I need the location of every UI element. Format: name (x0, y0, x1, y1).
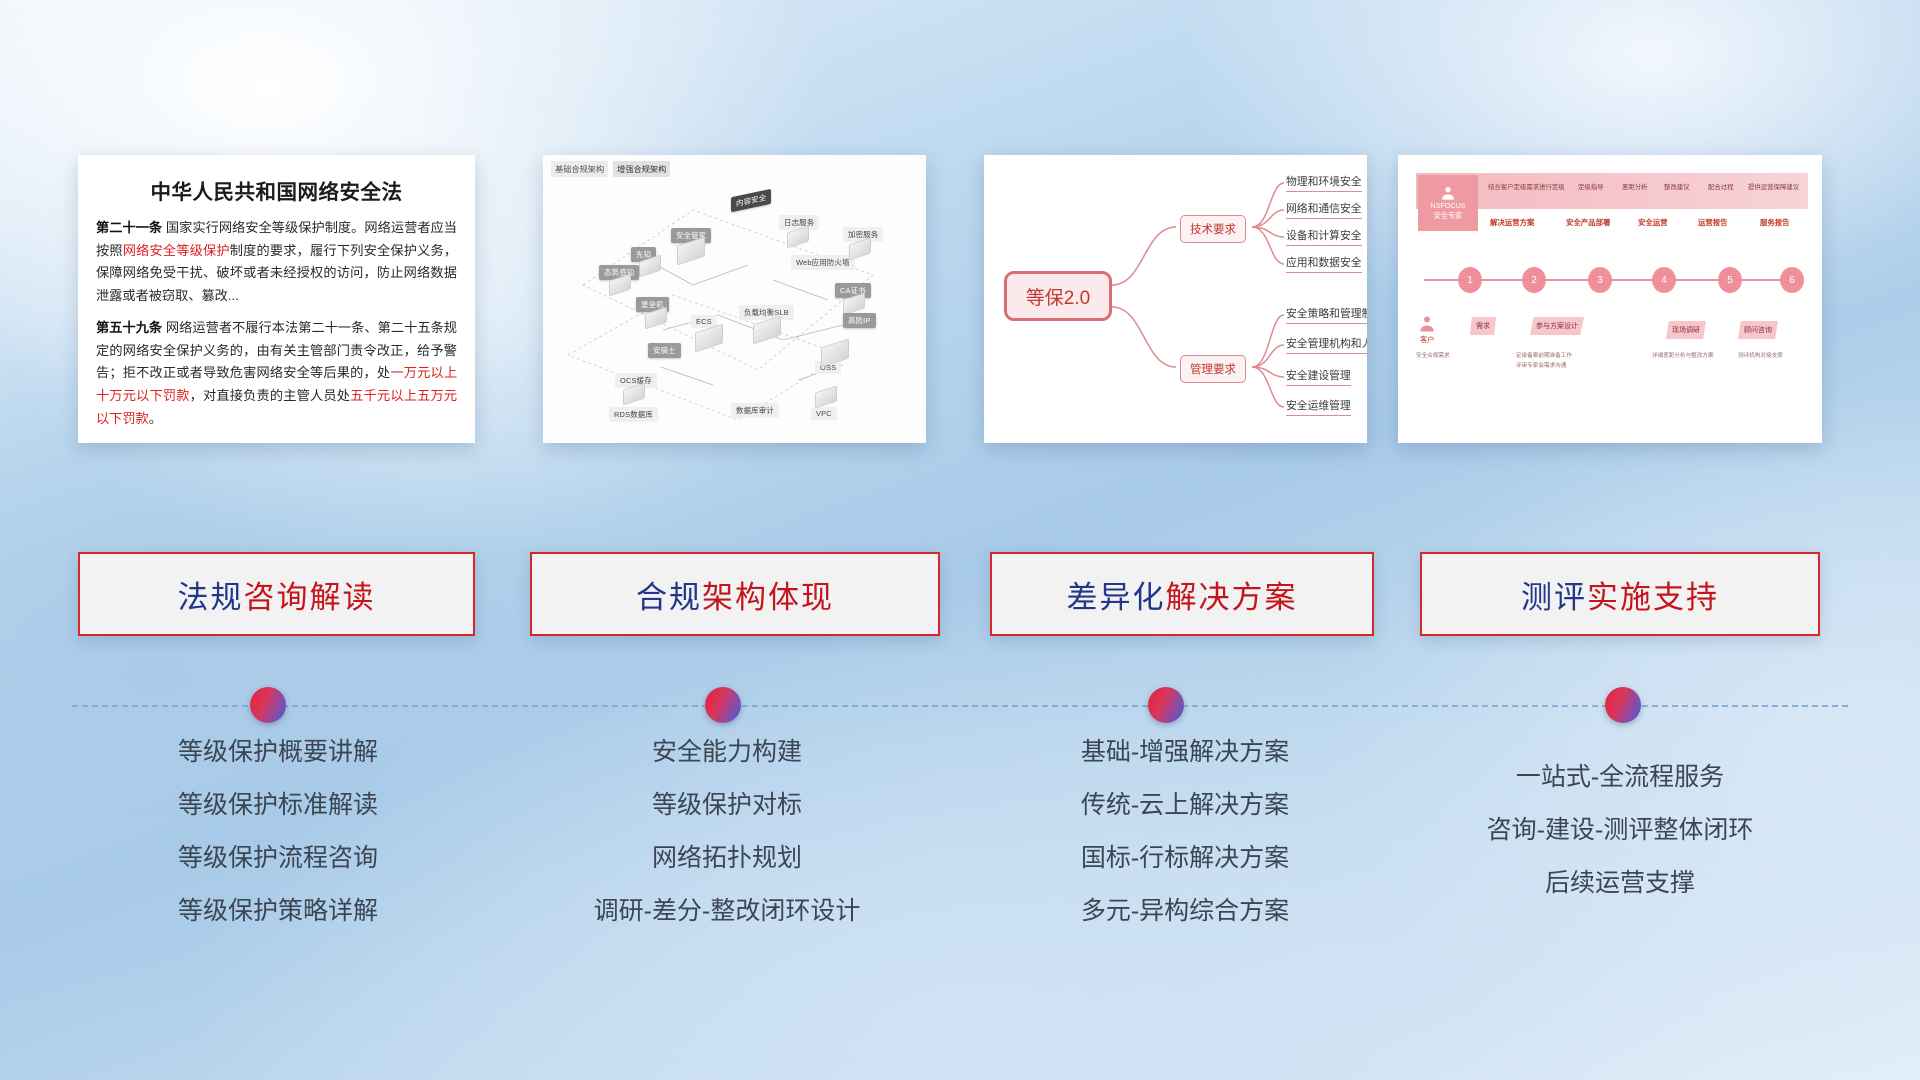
banner-2-red: 架构体现 (702, 580, 834, 615)
roadmap-brand-sub: 安全专家 (1434, 211, 1463, 221)
roadmap-tag-sub-4: 详细差距分析与整改方案 (1652, 351, 1714, 359)
node-anti-ddos-ip: 高防IP (843, 313, 876, 328)
roadmap-tag-sub-3: 评审专家会需求沟通 (1516, 361, 1566, 369)
node-vpc: VPC (811, 407, 837, 420)
list-item: 网络拓扑规划 (512, 846, 942, 871)
article-21-label: 第二十一条 (96, 220, 162, 235)
roadmap-header-item-3: 差距分析 (1622, 182, 1648, 191)
law-article-21: 第二十一条 国家实行网络安全等级保护制度。网络运营者应当按照网络安全等级保护制度… (96, 217, 457, 308)
timeline-dot-2[interactable] (705, 687, 741, 723)
mindmap-leaf-network-comm: 网络和通信安全 (1286, 200, 1362, 219)
roadmap-step-4: 4 (1652, 267, 1676, 293)
banner-evaluation-support[interactable]: 测评实施支持 (1420, 552, 1820, 636)
feature-list-architecture: 安全能力构建 等级保护对标 网络拓扑规划 调研-差分-整改闭环设计 (512, 740, 942, 952)
roadmap-service-2: 安全产品部署 (1566, 217, 1610, 228)
list-item: 等级保护流程咨询 (78, 846, 478, 871)
mindmap-leaf-physical-env: 物理和环境安全 (1286, 173, 1362, 192)
roadmap-header-item-4: 整改建议 (1664, 182, 1690, 191)
node-rds-database: RDS数据库 (609, 407, 658, 422)
banner-1-blue: 法规 (178, 580, 244, 615)
list-item: 等级保护概要讲解 (78, 740, 478, 765)
node-anqishi: 安骑士 (648, 343, 681, 358)
article-59-text-3: 。 (149, 411, 162, 426)
roadmap-diagram: 结合客户定级需求进行定级 定级指导 差距分析 整改建议 配合过程 提供运营保障建… (1398, 155, 1822, 443)
list-item: 国标-行标解决方案 (975, 846, 1395, 871)
thumbnail-card-row: 中华人民共和国网络安全法 第二十一条 国家实行网络安全等级保护制度。网络运营者应… (0, 155, 1920, 445)
banner-2-blue: 合规 (636, 580, 702, 615)
banner-4-red: 实施支持 (1587, 580, 1719, 615)
roadmap-step-5: 5 (1718, 267, 1742, 293)
feature-list-solution: 基础-增强解决方案 传统-云上解决方案 国标-行标解决方案 多元-异构综合方案 (975, 740, 1395, 952)
list-item: 一站式-全流程服务 (1410, 765, 1830, 790)
roadmap-tag-2: 参与方案设计 (1530, 317, 1584, 335)
list-item: 安全能力构建 (512, 740, 942, 765)
banner-3-blue: 差异化 (1067, 580, 1166, 615)
roadmap-header-item-2: 定级指导 (1578, 182, 1604, 191)
mindmap-leaf-app-data: 应用和数据安全 (1286, 254, 1362, 273)
node-load-balancer: 负载均衡SLB (739, 305, 794, 320)
mindmap-leaf-policy-system: 安全策略和管理制度 (1286, 305, 1367, 324)
mindmap-branch-technical: 技术要求 (1180, 215, 1246, 243)
roadmap-step-1: 1 (1458, 267, 1482, 293)
banner-4-blue: 测评 (1521, 580, 1587, 615)
timeline-dot-3[interactable] (1148, 687, 1184, 723)
mindmap-leaf-device-compute: 设备和计算安全 (1286, 227, 1362, 246)
roadmap-step-6: 6 (1780, 267, 1804, 293)
roadmap-customer-label: 客户 (1420, 335, 1434, 345)
banner-3-red: 解决方案 (1166, 580, 1298, 615)
page-root: 中华人民共和国网络安全法 第二十一条 国家实行网络安全等级保护制度。网络运营者应… (0, 0, 1920, 1080)
timeline-dashed-line (72, 705, 1848, 707)
roadmap-header-item-1: 结合客户定级需求进行定级 (1488, 182, 1565, 191)
roadmap-tag-4: 顾问咨询 (1738, 321, 1778, 339)
roadmap-tag-sub-1: 安全合规需求 (1416, 351, 1450, 359)
banner-3-text: 差异化解决方案 (1067, 572, 1298, 617)
timeline-dot-4[interactable] (1605, 687, 1641, 723)
roadmap-service-4: 运营报告 (1698, 217, 1728, 228)
list-item: 等级保护策略详解 (78, 899, 478, 924)
timeline-dot-1[interactable] (250, 687, 286, 723)
node-db-audit: 数据库审计 (731, 403, 779, 418)
roadmap-tag-sub-2: 定级备案前期准备工作 (1516, 351, 1572, 359)
roadmap-tag-3: 现场调研 (1666, 321, 1706, 339)
roadmap-tag-1: 需求 (1470, 317, 1496, 335)
list-item: 调研-差分-整改闭环设计 (512, 899, 942, 924)
law-document: 中华人民共和国网络安全法 第二十一条 国家实行网络安全等级保护制度。网络运营者应… (78, 155, 475, 443)
card-compliance-architecture[interactable]: 基础合规架构 增强合规架构 (543, 155, 926, 443)
roadmap-brand-name: NSFOCUS (1430, 201, 1465, 211)
card-cybersecurity-law[interactable]: 中华人民共和国网络安全法 第二十一条 国家实行网络安全等级保护制度。网络运营者应… (78, 155, 475, 443)
mindmap-branch-management: 管理要求 (1180, 355, 1246, 383)
article-59-label: 第五十九条 (96, 320, 162, 335)
mindmap-leaf-ops-mgmt: 安全运维管理 (1286, 397, 1351, 416)
roadmap-service-1: 解决运营方案 (1490, 217, 1534, 228)
mindmap-leaf-construction-mgmt: 安全建设管理 (1286, 367, 1351, 386)
customer-person-icon (1418, 313, 1436, 335)
roadmap-brand-badge: NSFOCUS 安全专家 (1418, 175, 1478, 231)
roadmap-header-item-6: 提供运营保障建议 (1748, 182, 1799, 191)
list-item: 等级保护标准解读 (78, 793, 478, 818)
list-item: 传统-云上解决方案 (975, 793, 1395, 818)
list-item: 等级保护对标 (512, 793, 942, 818)
roadmap-step-2: 2 (1522, 267, 1546, 293)
article-21-highlight: 网络安全等级保护 (123, 243, 230, 258)
user-icon (1440, 185, 1456, 201)
mindmap-leaf-org-personnel: 安全管理机构和人员 (1286, 335, 1367, 354)
banner-compliance-architecture[interactable]: 合规架构体现 (530, 552, 940, 636)
law-title: 中华人民共和国网络安全法 (96, 175, 457, 205)
list-item: 基础-增强解决方案 (975, 740, 1395, 765)
mindmap-root: 等保2.0 (1004, 271, 1112, 321)
banner-differentiated-solution[interactable]: 差异化解决方案 (990, 552, 1374, 636)
list-item: 后续运营支撑 (1410, 871, 1830, 896)
list-item: 多元-异构综合方案 (975, 899, 1395, 924)
roadmap-tag-sub-5: 测评机构对接支撑 (1738, 351, 1783, 359)
feature-list-regulation: 等级保护概要讲解 等级保护标准解读 等级保护流程咨询 等级保护策略详解 (78, 740, 478, 952)
roadmap-step-3: 3 (1588, 267, 1612, 293)
card-mindmap-djcp[interactable]: 等保2.0 技术要求 物理和环境安全 网络和通信安全 设备和计算安全 应用和数据… (984, 155, 1367, 443)
roadmap-header-item-5: 配合过程 (1708, 182, 1734, 191)
banner-regulation-consulting[interactable]: 法规咨询解读 (78, 552, 475, 636)
law-article-59: 第五十九条 网络运营者不履行本法第二十一条、第二十五条规定的网络安全保护义务的，… (96, 317, 457, 431)
architecture-canvas: 内容安全 安全管家 先知 态势感知 堡垒机 ECS 安骑士 OCS缓存 RDS数… (543, 155, 926, 443)
banner-2-text: 合规架构体现 (636, 572, 834, 617)
roadmap-service-3: 安全运营 (1638, 217, 1668, 228)
article-59-text-2: ，对直接负责的主管人员处 (190, 388, 351, 403)
roadmap-service-5: 服务报告 (1760, 217, 1790, 228)
architecture-diagram: 基础合规架构 增强合规架构 (543, 155, 926, 443)
feature-list-evaluation: 一站式-全流程服务 咨询-建设-测评整体闭环 后续运营支撑 (1410, 765, 1830, 924)
banner-1-red: 咨询解读 (244, 580, 376, 615)
banner-4-text: 测评实施支持 (1521, 572, 1719, 617)
banner-1-text: 法规咨询解读 (178, 572, 376, 617)
mindmap-diagram: 等保2.0 技术要求 物理和环境安全 网络和通信安全 设备和计算安全 应用和数据… (984, 155, 1367, 443)
list-item: 咨询-建设-测评整体闭环 (1410, 818, 1830, 843)
node-web-waf: Web应用防火墙 (791, 255, 855, 270)
card-service-roadmap[interactable]: 结合客户定级需求进行定级 定级指导 差距分析 整改建议 配合过程 提供运营保障建… (1398, 155, 1822, 443)
